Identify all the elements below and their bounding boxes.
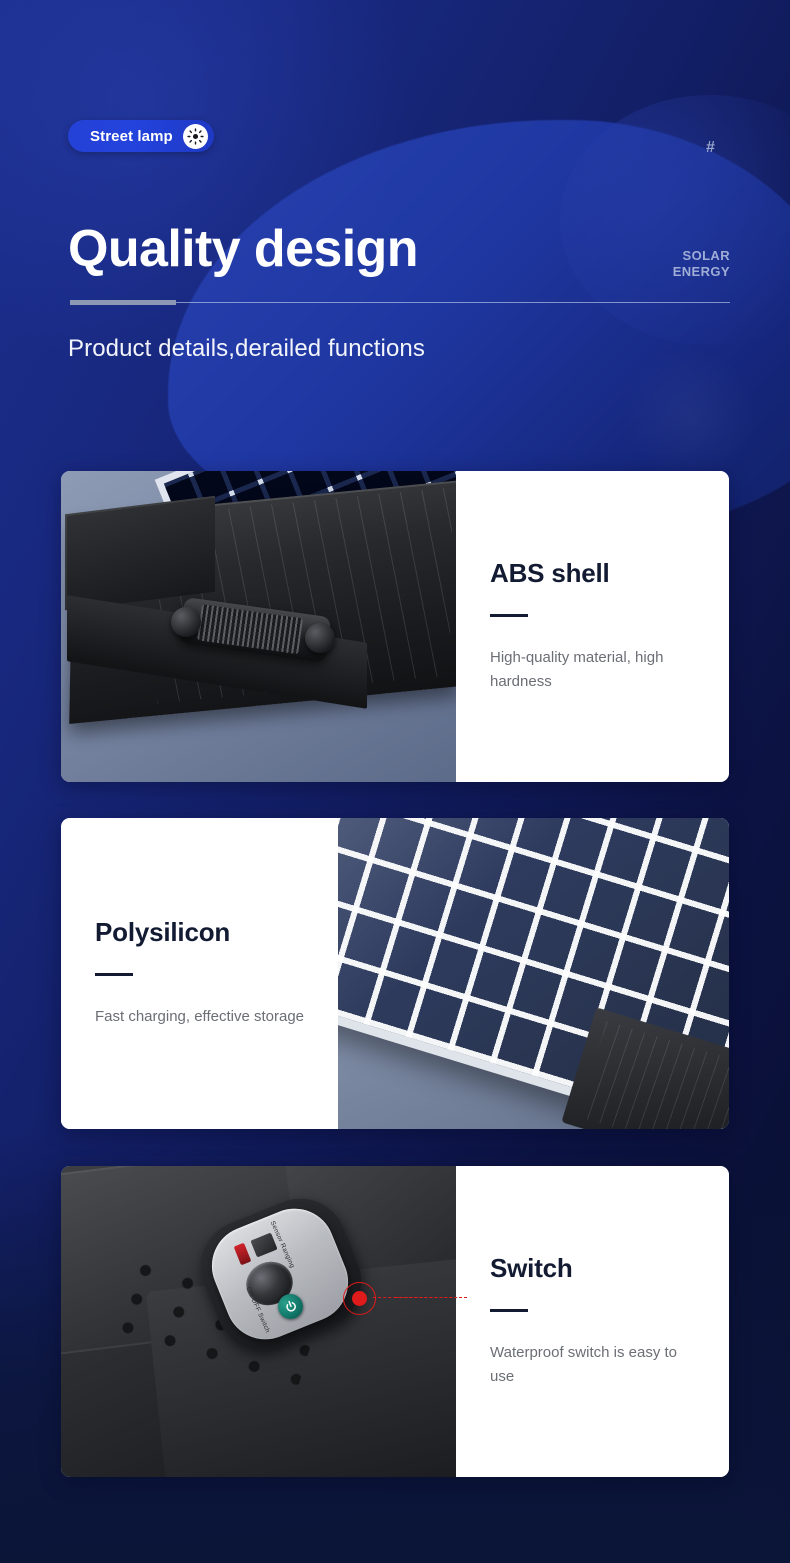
brand-tagline: SOLAR ENERGY bbox=[673, 248, 730, 280]
title-divider bbox=[70, 300, 730, 306]
card-description: Waterproof switch is easy to use bbox=[490, 1341, 695, 1390]
brand-line-1: SOLAR bbox=[673, 248, 730, 264]
hinge-knob-left bbox=[171, 607, 201, 637]
abs-housing-lip bbox=[65, 496, 215, 610]
feature-card-abs-shell[interactable]: ABS shell High-quality material, high ha… bbox=[61, 471, 729, 782]
polysilicon-photo bbox=[338, 818, 729, 1129]
switch-photo: Sensor Ranging ON OFF Switch bbox=[61, 1166, 456, 1477]
polysilicon-text-pane: Polysilicon Fast charging, effective sto… bbox=[61, 818, 338, 1129]
card-description: High-quality material, high hardness bbox=[490, 646, 695, 695]
card-title-rule bbox=[490, 614, 528, 617]
feature-card-polysilicon[interactable]: Polysilicon Fast charging, effective sto… bbox=[61, 818, 729, 1129]
page-subtitle: Product details,derailed functions bbox=[68, 335, 425, 363]
category-badge-label: Street lamp bbox=[90, 128, 173, 145]
card-title: Switch bbox=[490, 1254, 695, 1283]
page-title: Quality design bbox=[68, 223, 418, 275]
switch-text-pane: Switch Waterproof switch is easy to use bbox=[456, 1166, 729, 1477]
card-title-rule bbox=[95, 973, 133, 976]
card-title-rule bbox=[490, 1309, 528, 1312]
card-description: Fast charging, effective storage bbox=[95, 1005, 304, 1029]
feature-card-switch[interactable]: Sensor Ranging ON OFF Switch Switch Wate… bbox=[61, 1166, 729, 1477]
title-divider-accent bbox=[70, 300, 176, 305]
product-detail-page: Street lamp # Quality design SOLAR E bbox=[0, 0, 790, 1563]
abs-shell-photo bbox=[61, 471, 456, 782]
sun-brightness-icon bbox=[183, 124, 208, 149]
abs-shell-text-pane: ABS shell High-quality material, high ha… bbox=[456, 471, 729, 782]
background-watermark-seal bbox=[620, 345, 760, 485]
card-title: ABS shell bbox=[490, 559, 695, 588]
callout-leader-line-extension bbox=[395, 1297, 467, 1298]
callout-marker-dot bbox=[353, 1292, 366, 1305]
category-badge[interactable]: Street lamp bbox=[68, 120, 214, 152]
hash-mark: # bbox=[706, 139, 715, 157]
hinge-knob-right bbox=[305, 623, 335, 653]
card-title: Polysilicon bbox=[95, 918, 304, 947]
brand-line-2: ENERGY bbox=[673, 264, 730, 280]
